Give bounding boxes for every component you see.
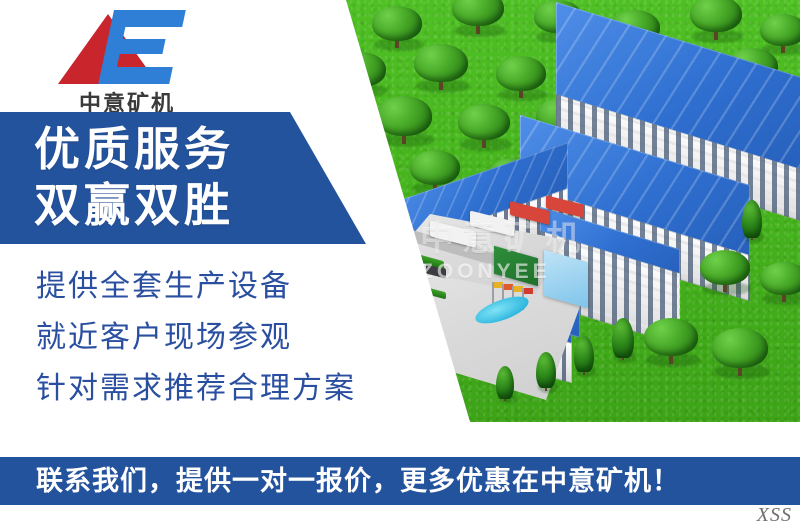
tree-conic — [574, 336, 594, 378]
tree — [414, 44, 468, 94]
tree — [458, 104, 510, 152]
promo-poster: 中意矿机 ZOONYEE 中意矿机 优质服务 双赢双胜 提供全套生产设备 就近客… — [0, 0, 800, 530]
benefit-item-3: 针对需求推荐合理方案 — [36, 374, 436, 404]
benefit-item-1: 提供全套生产设备 — [36, 272, 436, 302]
tree-conic — [612, 318, 634, 364]
tree — [690, 0, 742, 44]
tree — [712, 328, 768, 380]
benefit-list: 提供全套生产设备 就近客户现场参观 针对需求推荐合理方案 — [36, 272, 436, 425]
headline-line-1: 优质服务 — [34, 126, 234, 172]
benefit-item-2: 就近客户现场参观 — [36, 323, 436, 353]
tree — [644, 318, 698, 368]
tree-conic — [742, 200, 762, 244]
flag — [492, 282, 494, 304]
tree — [760, 262, 800, 306]
tree-conic — [536, 352, 556, 394]
cta-banner-text: 联系我们，提供一对一报价，更多优惠在中意矿机！ — [36, 468, 680, 495]
company-logo: 中意矿机 — [52, 8, 202, 113]
tree-conic — [496, 366, 514, 404]
corner-watermark: XSS — [757, 504, 792, 527]
tree — [700, 250, 750, 296]
tree — [452, 0, 504, 38]
cta-banner[interactable]: 联系我们，提供一对一报价，更多优惠在中意矿机！ — [0, 457, 800, 505]
letter-e-icon — [114, 10, 194, 84]
logo-mark-icon — [52, 8, 202, 84]
tree — [496, 56, 546, 102]
headline-line-2: 双赢双胜 — [34, 182, 234, 228]
